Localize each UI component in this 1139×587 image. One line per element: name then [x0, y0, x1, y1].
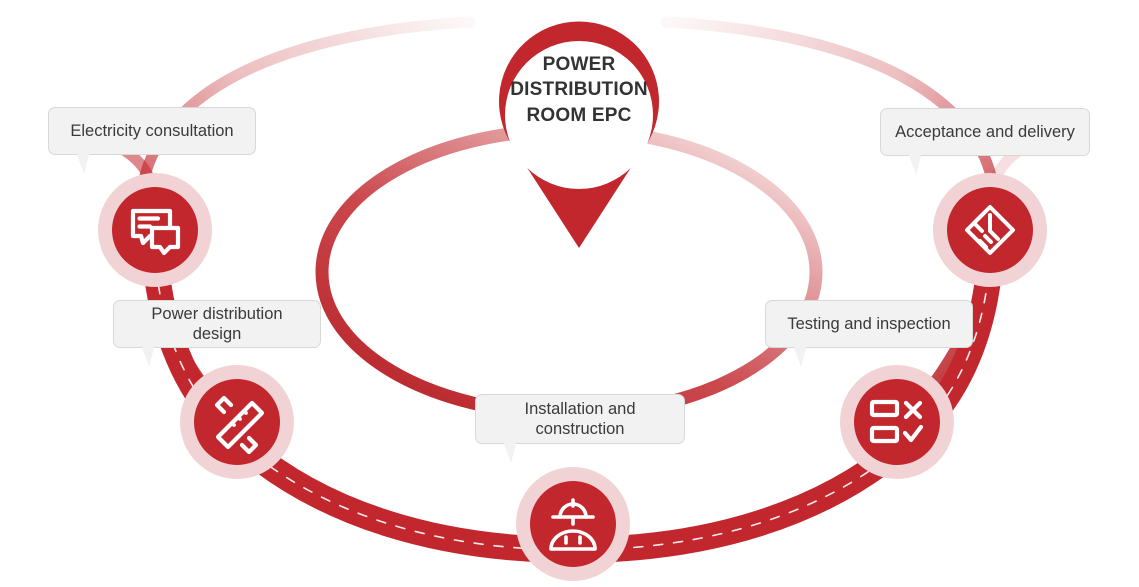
- label-power-distribution-design[interactable]: Power distribution design: [113, 300, 321, 348]
- label-electricity-consultation[interactable]: Electricity consultation: [48, 107, 256, 155]
- page-title: POWER DISTRIBUTION ROOM EPC: [497, 52, 661, 128]
- label-text: Power distribution design: [126, 304, 308, 344]
- label-acceptance-delivery[interactable]: Acceptance and delivery: [880, 108, 1090, 156]
- node-hit-electricity-consultation[interactable]: [98, 173, 212, 287]
- label-text: Testing and inspection: [787, 314, 950, 334]
- node-hit-testing-inspection[interactable]: [840, 365, 954, 479]
- label-text: Electricity consultation: [70, 121, 233, 141]
- diagram-canvas: POWER DISTRIBUTION ROOM EPC Electricity …: [0, 0, 1139, 587]
- callout-tail: [909, 155, 921, 174]
- label-testing-inspection[interactable]: Testing and inspection: [765, 300, 973, 348]
- callout-tail: [794, 347, 806, 366]
- label-installation-construction[interactable]: Installation and construction: [475, 394, 685, 444]
- node-hit-power-distribution-design[interactable]: [180, 365, 294, 479]
- label-text: Installation and construction: [525, 399, 636, 439]
- node-hit-installation-construction[interactable]: [516, 467, 630, 581]
- node-hit-acceptance-delivery[interactable]: [933, 173, 1047, 287]
- callout-tail: [142, 347, 154, 366]
- label-text: Acceptance and delivery: [895, 122, 1075, 142]
- callout-tail: [77, 154, 89, 173]
- callout-tail: [504, 443, 516, 462]
